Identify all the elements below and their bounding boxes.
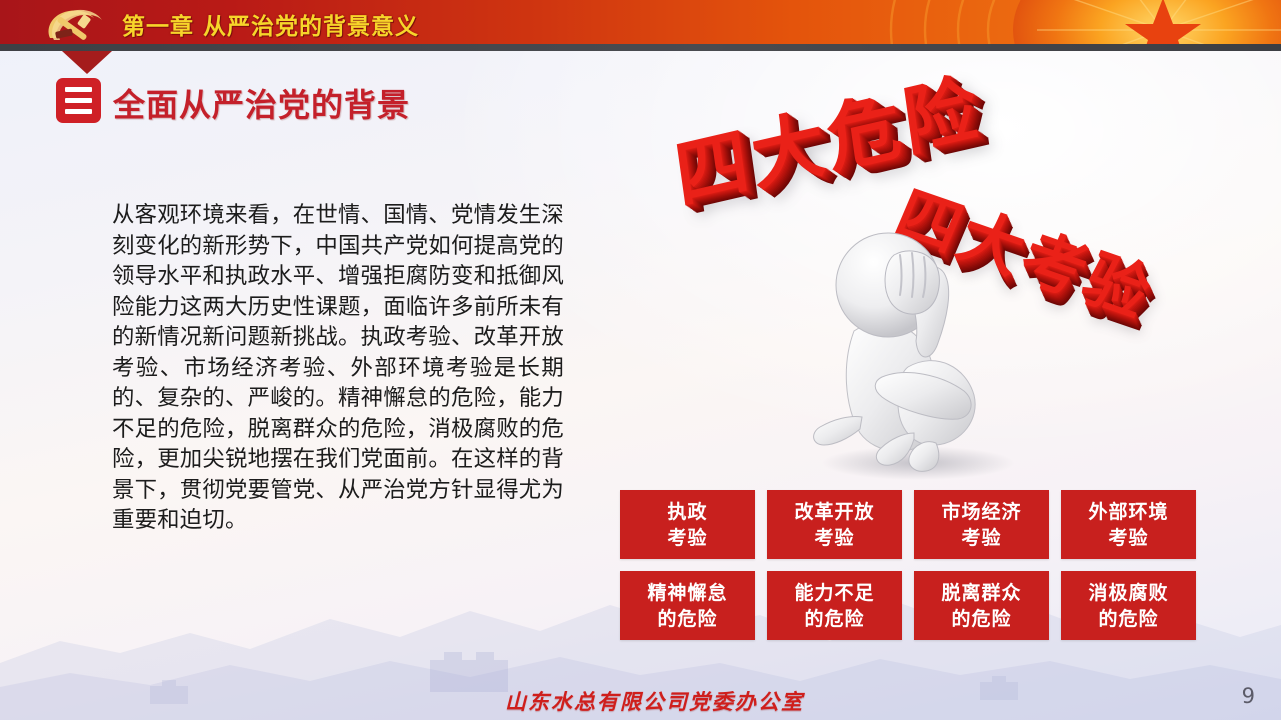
artwork-area: 四大危险 四大考验 bbox=[610, 95, 1270, 485]
label-box[interactable]: 外部环境 考验 bbox=[1061, 490, 1196, 559]
label-box[interactable]: 精神懈怠 的危险 bbox=[620, 571, 755, 640]
label-line-2: 的危险 bbox=[1098, 606, 1158, 632]
label-box-row-2: 精神懈怠 的危险 能力不足 的危险 脱离群众 的危险 消极腐败 的危险 bbox=[620, 571, 1198, 640]
label-box[interactable]: 能力不足 的危险 bbox=[767, 571, 902, 640]
label-box[interactable]: 消极腐败 的危险 bbox=[1061, 571, 1196, 640]
label-line-2: 的危险 bbox=[657, 606, 717, 632]
label-line-2: 考验 bbox=[961, 525, 1001, 551]
triangle-down-icon bbox=[62, 51, 112, 74]
label-line-1: 外部环境 bbox=[1088, 499, 1168, 525]
list-lines-icon bbox=[56, 78, 101, 123]
label-line-2: 考验 bbox=[814, 525, 854, 551]
party-hammer-sickle-emblem-icon bbox=[38, 3, 116, 44]
label-line-1: 能力不足 bbox=[794, 580, 874, 606]
label-box[interactable]: 市场经济 考验 bbox=[914, 490, 1049, 559]
chapter-header-bar: 第一章 从严治党的背景意义 bbox=[0, 0, 1281, 44]
label-line-1: 改革开放 bbox=[794, 499, 874, 525]
organization-footer: 山东水总有限公司党委办公室 bbox=[505, 686, 804, 716]
label-box[interactable]: 改革开放 考验 bbox=[767, 490, 902, 559]
section-title: 全面从严治党的背景 bbox=[113, 80, 410, 126]
body-paragraph: 从客观环境来看，在世情、国情、党情发生深刻变化的新形势下，中国共产党如何提高党的… bbox=[112, 200, 564, 536]
label-line-2: 的危险 bbox=[951, 606, 1011, 632]
label-line-1: 市场经济 bbox=[941, 499, 1021, 525]
label-line-1: 消极腐败 bbox=[1088, 580, 1168, 606]
slide-canvas: 第一章 从严治党的背景意义 全面从严治党的背景 从客观环境来看，在世情、国情、党… bbox=[0, 0, 1281, 720]
label-box[interactable]: 执政 考验 bbox=[620, 490, 755, 559]
chapter-title: 第一章 从严治党的背景意义 bbox=[122, 7, 419, 41]
label-box-row-1: 执政 考验 改革开放 考验 市场经济 考验 外部环境 考验 bbox=[620, 490, 1198, 559]
label-line-2: 考验 bbox=[667, 525, 707, 551]
label-box-grid: 执政 考验 改革开放 考验 市场经济 考验 外部环境 考验 精神懈怠 的危险 能 bbox=[620, 490, 1198, 652]
label-box[interactable]: 脱离群众 的危险 bbox=[914, 571, 1049, 640]
page-number: 9 bbox=[1242, 684, 1255, 708]
label-line-1: 精神懈怠 bbox=[647, 580, 727, 606]
label-line-2: 考验 bbox=[1108, 525, 1148, 551]
label-line-1: 执政 bbox=[667, 499, 707, 525]
label-line-2: 的危险 bbox=[804, 606, 864, 632]
sitting-worried-3d-figure-icon bbox=[790, 181, 1040, 481]
radial-star-burst-icon bbox=[811, 0, 1281, 44]
header-bottom-strip bbox=[0, 44, 1281, 51]
label-line-1: 脱离群众 bbox=[941, 580, 1021, 606]
